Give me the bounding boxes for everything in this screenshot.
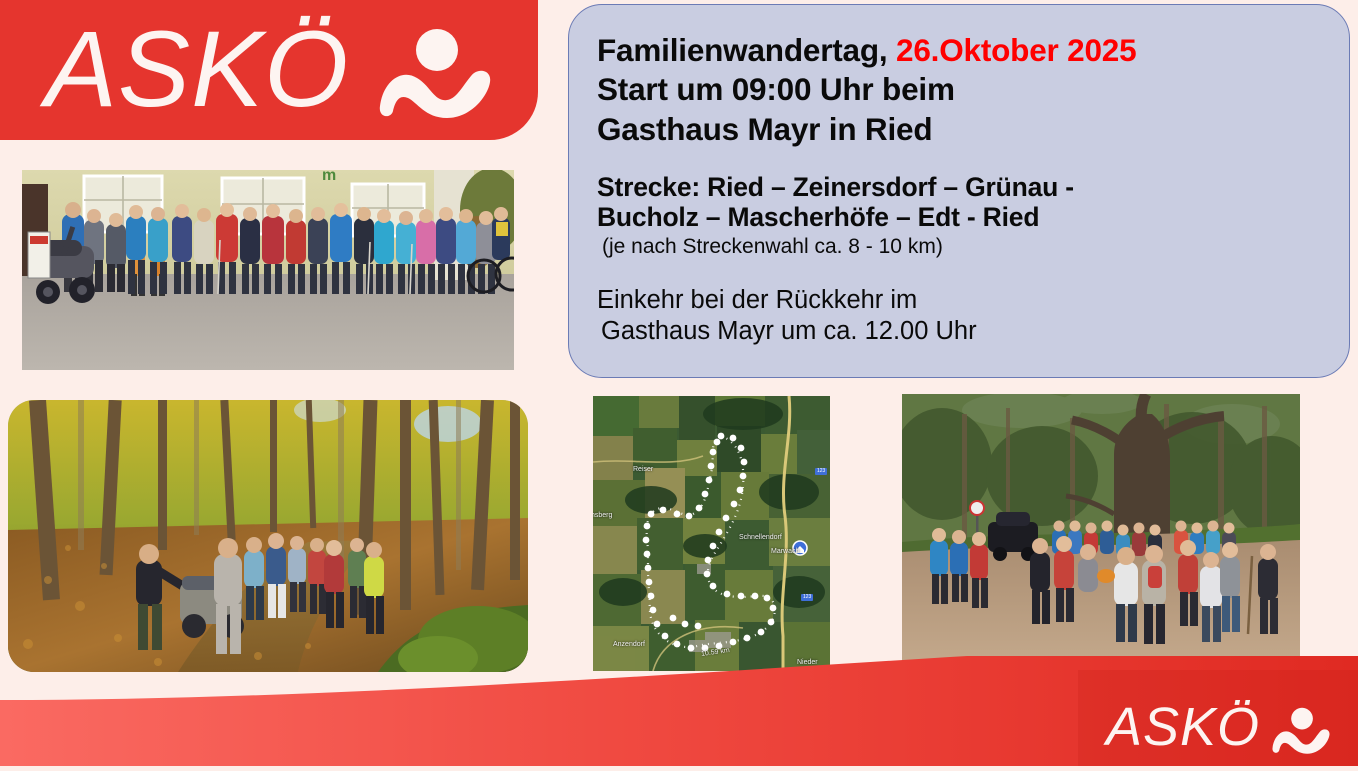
map-label-anzendorf: Anzendorf — [613, 641, 645, 648]
route-line-2: Bucholz – Mascherhöfe – Edt - Ried — [597, 203, 1323, 233]
event-date: 26.Oktober 2025 — [896, 32, 1136, 68]
event-headline: Familienwandertag, 26.Oktober 2025 Start… — [597, 31, 1323, 149]
headline-separator: , — [879, 32, 896, 68]
route-block: Strecke: Ried – Zeinersdorf – Grünau - B… — [597, 173, 1323, 259]
event-info-panel: Familienwandertag, 26.Oktober 2025 Start… — [568, 4, 1350, 378]
askoe-wordmark-top: ASKÖ — [45, 15, 349, 123]
event-name: Familienwandertag — [597, 32, 879, 68]
map-road-shield-1: 123 — [815, 468, 827, 475]
askoe-wordmark-bottom: ASKÖ — [1106, 700, 1260, 754]
running-figure-icon — [1270, 706, 1332, 754]
route-line-1: Strecke: Ried – Zeinersdorf – Grünau - — [597, 173, 1323, 203]
running-figure-icon — [375, 26, 495, 118]
photo-group-in-front-of-building: m — [22, 170, 514, 370]
headline-line-2: Start um 09:00 Uhr beim — [597, 70, 1323, 109]
map-label-hsberg: hsberg — [593, 512, 612, 519]
svg-text:m: m — [322, 170, 336, 184]
photo-group-under-tree — [902, 394, 1300, 666]
headline-line-3: Gasthaus Mayr in Ried — [597, 110, 1323, 149]
askoe-logo-banner-top: ASKÖ — [0, 0, 538, 140]
map-label-schnellendorf: Schnellendorf — [739, 534, 782, 541]
photo-satellite-route-map: Schnellendorf Marwach Anzendorf Reiser h… — [593, 396, 830, 671]
return-line-1: Einkehr bei der Rückkehr im — [597, 285, 1323, 316]
map-road-shield-2: 123 — [801, 594, 813, 601]
headline-line-1: Familienwandertag, 26.Oktober 2025 — [597, 31, 1323, 70]
askoe-logo-bottom: ASKÖ — [1090, 696, 1346, 760]
route-distance-note: (je nach Streckenwahl ca. 8 - 10 km) — [597, 235, 1323, 259]
return-line-2: Gasthaus Mayr um ca. 12.00 Uhr — [597, 316, 1323, 347]
map-label-marwach: Marwach — [771, 548, 799, 555]
map-label-reiser: Reiser — [633, 466, 653, 473]
return-block: Einkehr bei der Rückkehr im Gasthaus May… — [597, 285, 1323, 346]
photo-autumn-forest-hike — [8, 400, 528, 672]
bottom-red-wave-banner: ASKÖ — [0, 656, 1358, 766]
